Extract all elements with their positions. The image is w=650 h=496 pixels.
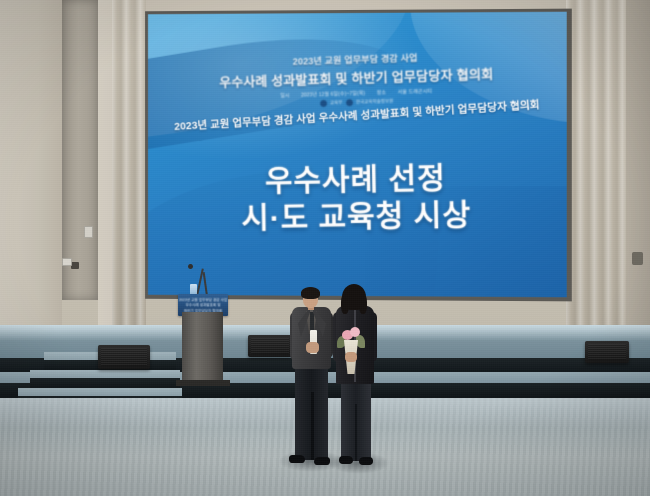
left-wall-panel bbox=[0, 0, 62, 352]
man-shoe-left bbox=[289, 455, 305, 463]
slide-meta-date-label: 일시 bbox=[280, 93, 290, 99]
slide-title-line2: 시·도 교육청 시상 bbox=[148, 196, 567, 239]
logo-label-keris: 한국교육학술정보원 bbox=[356, 99, 393, 105]
logo-label-ministry: 교육부 bbox=[330, 100, 343, 105]
slide-meta-place-label: 장소 bbox=[377, 90, 387, 96]
podium-base bbox=[176, 380, 230, 386]
man-tie bbox=[310, 312, 314, 332]
man-shoe-right bbox=[314, 457, 330, 465]
slide-meta-place: 서울 드래곤시티 bbox=[398, 89, 433, 96]
podium-sign-line2: 우수사례 성과발표회 및 bbox=[178, 303, 228, 308]
keris-logo-icon bbox=[346, 99, 353, 106]
slide-main-title: 우수사례 선정 시·도 교육청 시상 bbox=[148, 159, 567, 239]
man-hands bbox=[306, 342, 319, 353]
man-trouser-gap bbox=[311, 392, 314, 460]
bouquet-flower bbox=[350, 327, 360, 337]
wall-sensor bbox=[62, 258, 72, 266]
woman-shoe-right bbox=[359, 457, 373, 465]
man-hair bbox=[301, 287, 320, 299]
stage-monitor-speaker-center bbox=[248, 335, 292, 357]
woman-hands bbox=[345, 352, 357, 362]
speaker-grille bbox=[251, 338, 289, 354]
woman-shoe-left bbox=[339, 456, 353, 464]
left-wall-recess bbox=[62, 0, 98, 300]
speaker-grille bbox=[101, 348, 147, 366]
ministry-logo-icon bbox=[320, 100, 327, 107]
woman-hair bbox=[342, 284, 366, 310]
microphone-head-icon bbox=[188, 264, 193, 269]
stage-monitor-speaker-right bbox=[585, 341, 629, 363]
speaker-grille bbox=[588, 344, 626, 360]
woman-trouser-gap bbox=[355, 404, 357, 461]
wall-switch-plate bbox=[84, 226, 93, 238]
curtain-left bbox=[112, 0, 146, 372]
podium bbox=[182, 312, 223, 384]
stage-monitor-speaker-left bbox=[98, 345, 150, 369]
photograph: 2023년 교원 업무부담 경감 사업 우수사례 성과발표회 및 하반기 업무담… bbox=[0, 0, 650, 496]
projection-screen: 2023년 교원 업무부담 경감 사업 우수사례 성과발표회 및 하반기 업무담… bbox=[148, 12, 567, 298]
